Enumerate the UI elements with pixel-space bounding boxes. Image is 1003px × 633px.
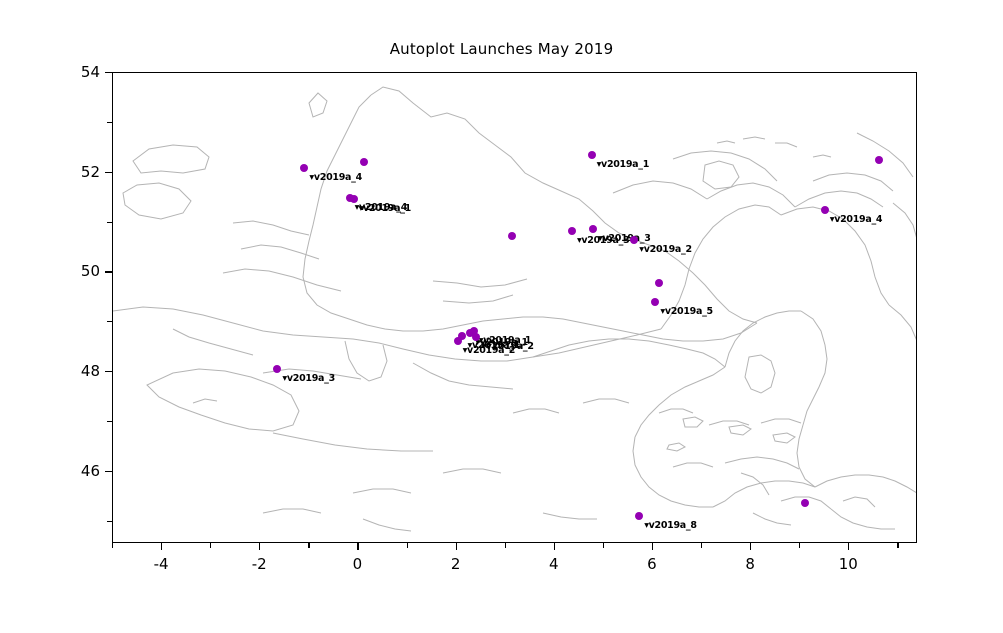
data-point-label: ▾v2019a_4 (830, 214, 882, 225)
x-tick-major (652, 543, 653, 550)
y-tick-minor (107, 321, 112, 322)
data-point[interactable] (589, 225, 597, 233)
y-tick-minor (107, 122, 112, 123)
x-tick-minor (799, 543, 800, 548)
x-tick-minor (505, 543, 506, 548)
x-tick-minor (112, 543, 113, 548)
data-point-label: ▾v2019a_2 (639, 244, 691, 255)
y-tick-major (105, 172, 112, 173)
x-tick-minor (407, 543, 408, 548)
figure-canvas: Autoplot Launches May 2019 (0, 0, 1003, 633)
x-tick-major (554, 543, 555, 550)
x-tick-minor (603, 543, 604, 548)
data-point[interactable] (508, 232, 516, 240)
y-tick-label: 52 (32, 163, 100, 181)
x-tick-minor (210, 543, 211, 548)
x-tick-label: 6 (647, 555, 657, 573)
x-tick-label: 2 (451, 555, 461, 573)
chart-title: Autoplot Launches May 2019 (0, 40, 1003, 58)
data-point[interactable] (875, 156, 883, 164)
x-tick-minor (897, 543, 898, 548)
data-point[interactable] (568, 227, 576, 235)
data-point-label: ▾v2019a_2 (481, 341, 533, 352)
x-tick-major (357, 543, 358, 550)
x-tick-label: -2 (252, 555, 267, 573)
x-tick-label: 8 (745, 555, 755, 573)
data-point[interactable] (458, 332, 466, 340)
data-point-label: ▾v2019a_1 (597, 159, 649, 170)
data-point-label: ▾v2019a_4 (309, 172, 361, 183)
data-point[interactable] (821, 206, 829, 214)
y-tick-minor (107, 521, 112, 522)
x-tick-major (848, 543, 849, 550)
x-tick-minor (308, 543, 309, 548)
x-tick-major (456, 543, 457, 550)
data-point[interactable] (635, 512, 643, 520)
y-tick-major (105, 271, 112, 272)
y-tick-label: 50 (32, 262, 100, 280)
data-point[interactable] (360, 158, 368, 166)
y-tick-major (105, 72, 112, 73)
data-point-label: ▾v2019a_5 (660, 306, 712, 317)
data-point[interactable] (472, 333, 480, 341)
x-tick-label: 0 (353, 555, 363, 573)
data-point[interactable] (588, 151, 596, 159)
data-point[interactable] (655, 279, 663, 287)
data-point-label: ▾v2019a_8 (644, 520, 696, 531)
x-tick-label: 4 (549, 555, 559, 573)
x-tick-major (161, 543, 162, 550)
y-tick-major (105, 471, 112, 472)
data-point[interactable] (350, 195, 358, 203)
data-point[interactable] (801, 499, 809, 507)
data-point[interactable] (651, 298, 659, 306)
data-point[interactable] (630, 236, 638, 244)
data-point-label: ▾v2019a_3 (282, 373, 334, 384)
x-tick-label: 10 (839, 555, 858, 573)
data-point-label: ▾v2019a_1 (359, 203, 411, 214)
y-tick-minor (107, 421, 112, 422)
coastline-map (113, 73, 917, 543)
y-tick-label: 46 (32, 462, 100, 480)
y-tick-label: 54 (32, 63, 100, 81)
x-tick-label: -4 (154, 555, 169, 573)
y-tick-label: 48 (32, 362, 100, 380)
data-point[interactable] (273, 365, 281, 373)
x-tick-major (259, 543, 260, 550)
data-point-label: ▾v2019a_3 (598, 233, 650, 244)
x-tick-major (750, 543, 751, 550)
plot-axes-area: ▾v2019a_4▾v2019a_4▾v2019a_1▾v2019a_3▾v20… (112, 72, 917, 543)
y-tick-major (105, 371, 112, 372)
x-tick-minor (701, 543, 702, 548)
data-point[interactable] (300, 164, 308, 172)
y-tick-minor (107, 222, 112, 223)
